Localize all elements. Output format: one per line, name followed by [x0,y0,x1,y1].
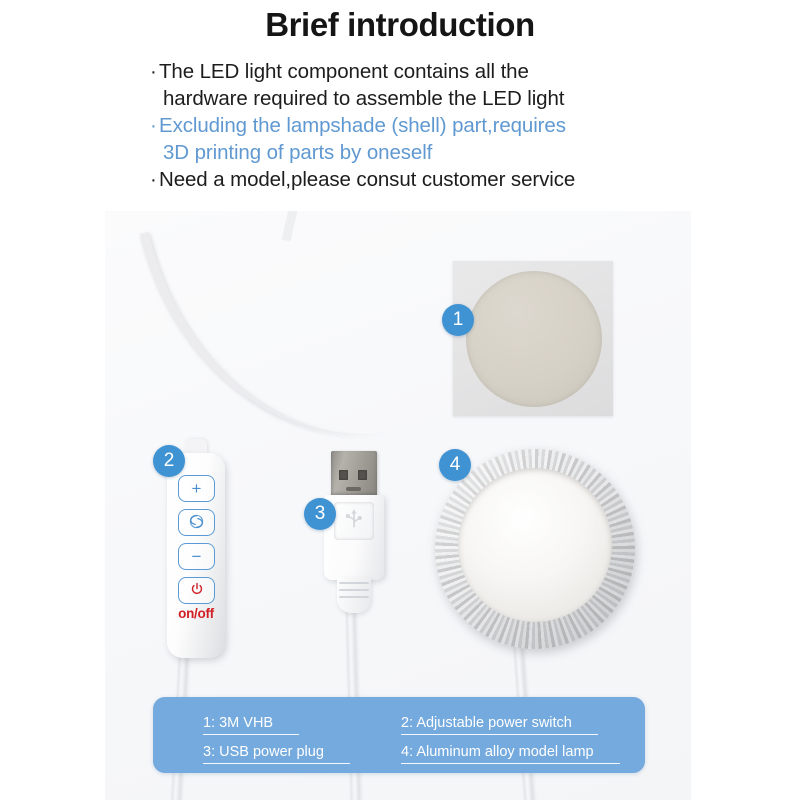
intro-bullet-list: ·The LED light component contains all th… [150,58,670,193]
aluminum-alloy-model-lamp [435,449,635,649]
brightness-down-button[interactable]: − [178,543,215,570]
lamp-diffuser-lens [458,468,612,622]
onoff-label: on/off [167,606,225,621]
legend-box: 1: 3M VHB 2: Adjustable power switch 3: … [153,697,645,773]
bullet-1-line-2: hardware required to assemble the LED li… [150,85,670,112]
legend-item-4: 4: Aluminum alloy model lamp [401,744,620,764]
usb-shell-notch [346,487,361,491]
header-section: Brief introduction ·The LED light compon… [0,0,800,210]
legend-item-1-label: 1: 3M VHB [203,715,299,735]
usb-contact-cutout-left [339,470,348,480]
bullet-1-line-1: ·The LED light component contains all th… [150,58,670,85]
bullet-2-line-2: 3D printing of parts by oneself [150,139,670,166]
badge-4: 4 [439,449,471,481]
page-title: Brief introduction [0,6,800,44]
legend-item-4-label: 4: Aluminum alloy model lamp [401,744,620,764]
usb-trident-icon [341,506,367,537]
bullet-marker-icon: · [150,112,159,139]
cable-upper-curve [140,211,419,478]
bullet-2-line-1: ·Excluding the lampshade (shell) part,re… [150,112,670,139]
bullet-marker-icon: · [150,166,159,193]
legend-item-3-label: 3: USB power plug [203,744,350,764]
adjustable-power-switch: + − on/off [167,453,225,658]
usb-logo-plate [334,502,374,540]
usb-metal-connector [331,451,377,496]
legend-item-2-label: 2: Adjustable power switch [401,715,598,735]
badge-3: 3 [304,498,336,530]
usb-grip-rib [339,589,369,591]
power-icon [190,582,204,599]
badge-1: 1 [442,304,474,336]
bullet-1-text-2: hardware required to assemble the LED li… [163,87,564,110]
bullet-1-text-1: The LED light component contains all the [159,60,529,83]
mode-cycle-button[interactable] [178,509,215,536]
legend-item-2: 2: Adjustable power switch [401,715,598,735]
power-button[interactable] [178,577,215,604]
3m-vhb-pad [453,261,613,416]
vhb-adhesive-circle [466,271,602,407]
usb-contact-cutout-right [358,470,367,480]
brightness-up-button[interactable]: + [178,475,215,502]
bullet-2-text-2: 3D printing of parts by oneself [163,141,432,164]
plus-icon: + [192,480,202,497]
product-photo-panel: + − on/off [105,211,691,800]
usb-power-plug [324,451,384,641]
cycle-mode-icon [188,513,205,533]
legend-item-1: 1: 3M VHB [203,715,299,735]
minus-icon: − [192,548,202,565]
bullet-2-text-1: Excluding the lampshade (shell) part,req… [159,114,566,137]
badge-2: 2 [153,445,185,477]
bullet-marker-icon: · [150,58,159,85]
legend-item-3: 3: USB power plug [203,744,350,764]
bullet-3-text-1: Need a model,please consut customer serv… [159,168,575,191]
usb-grip-rib [339,582,369,584]
bullet-3-line-1: ·Need a model,please consut customer ser… [150,166,670,193]
usb-grip-rib [339,596,369,598]
